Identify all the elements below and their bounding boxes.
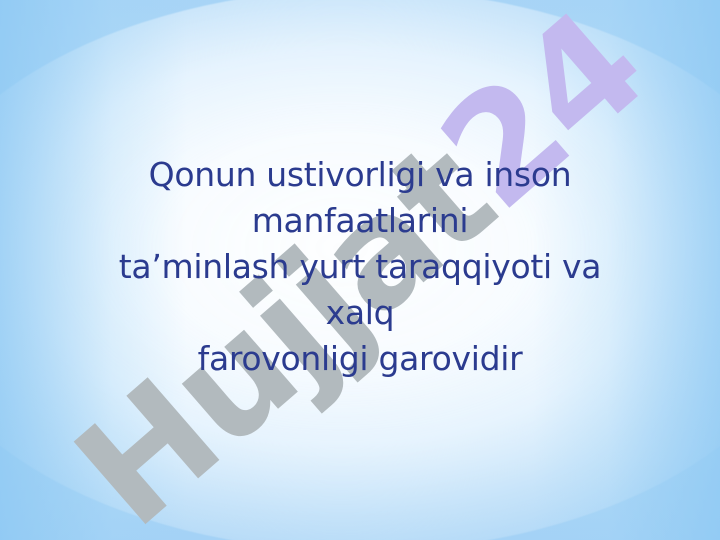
title-line-4: xalq [26, 290, 694, 336]
title-line-3: ta’minlash yurt taraqqiyoti va [26, 244, 694, 290]
slide-title: Qonun ustivorligi va inson manfaatlarini… [0, 152, 720, 382]
title-line-1: Qonun ustivorligi va inson [26, 152, 694, 198]
title-line-2: manfaatlarini [26, 198, 694, 244]
title-line-5: farovonligi garovidir [26, 336, 694, 382]
presentation-slide: Hujjat24 Qonun ustivorligi va inson manf… [0, 0, 720, 540]
